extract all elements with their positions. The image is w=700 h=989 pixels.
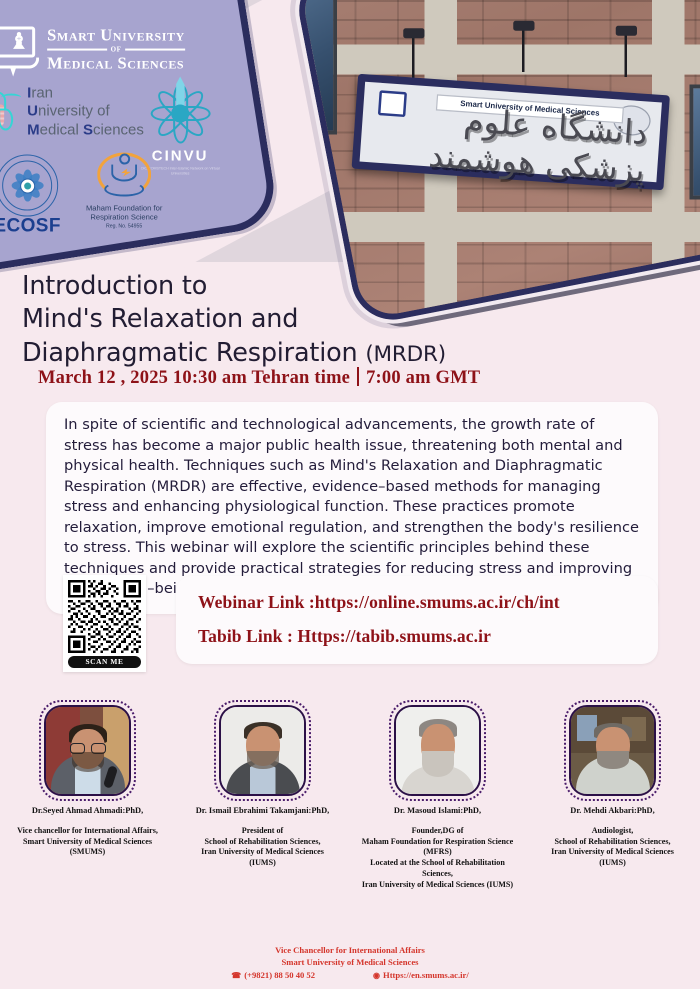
avatar — [39, 700, 136, 801]
speaker-name: Dr. Mehdi Akbari:PhD, — [525, 806, 700, 817]
footer-line-2: Smart University of Medical Sciences — [0, 956, 700, 968]
cinvu-star-icon — [147, 81, 213, 147]
logo-panel: ♝ Smart University of Medical Sciences I… — [0, 0, 280, 272]
speaker-role: President of School of Rehabilitation Sc… — [175, 826, 350, 869]
speaker-name: Dr. Masoud Islami:PhD, — [350, 806, 525, 817]
title-line-3: Diaphragmatic Respiration (MRDR) — [22, 337, 582, 370]
avatar-frame — [569, 705, 656, 796]
webinar-link[interactable]: Webinar Link :https://online.smums.ac.ir… — [198, 590, 658, 615]
speaker-portrait — [46, 707, 129, 794]
avatar — [214, 700, 311, 801]
speaker-card: Dr. Masoud Islami:PhD, Founder,DG of Mah… — [350, 700, 525, 890]
ecosf-wordmark: ECOSF — [0, 216, 68, 238]
links-card: Webinar Link :https://online.smums.ac.ir… — [176, 576, 658, 664]
ecosf-flower-icon — [10, 169, 44, 203]
iums-l3a: M — [27, 121, 40, 138]
logo-maham: Maham Foundation for Respiration Science… — [70, 151, 178, 230]
date-separator — [357, 367, 359, 386]
qr-code-icon[interactable] — [68, 580, 141, 653]
speaker-name: Dr. Ismail Ebrahimi Takamjani:PhD, — [175, 806, 350, 817]
speaker-portrait — [571, 707, 654, 794]
logo-ecosf: ECOSF — [0, 155, 68, 238]
smums-line-1: Smart University — [47, 27, 185, 44]
avatar-frame — [219, 705, 306, 796]
title-line-1: Introduction to — [22, 270, 582, 303]
phone-icon: ☎ — [231, 970, 241, 981]
footer-phone: ☎ (+9821) 88 50 40 52 — [231, 969, 315, 981]
maham-wordmark: Maham Foundation for Respiration Science… — [70, 204, 178, 230]
footer-website-text[interactable]: Https://en.smums.ac.ir/ — [383, 969, 469, 981]
speaker-portrait — [221, 707, 304, 794]
ecosf-seal-icon — [0, 155, 58, 217]
iums-l3b: edical — [40, 121, 83, 138]
caduceus-icon: ♝ — [9, 29, 29, 55]
speaker-role: Audiologist, School of Rehabilitation Sc… — [525, 826, 700, 869]
speaker-role: Vice chancellor for International Affair… — [0, 826, 175, 858]
maham-line-2: Respiration Science — [70, 213, 178, 222]
title-line-2: Mind's Relaxation and — [22, 303, 582, 336]
avatar — [564, 700, 661, 801]
globe-icon: ◉ — [373, 970, 380, 981]
iums-l1b: ran — [31, 85, 53, 102]
page-title: Introduction to Mind's Relaxation and Di… — [22, 270, 582, 370]
speaker-card: Dr. Ismail Ebrahimi Takamjani:PhD, Presi… — [175, 700, 350, 890]
sign-persian-text: دانشگاه علوم پزشکی هوشمند — [372, 110, 647, 175]
footer-contact: ☎ (+9821) 88 50 40 52 ◉ Https://en.smums… — [0, 969, 700, 981]
footer-phone-text: (+9821) 88 50 40 52 — [244, 969, 315, 981]
speaker-role: Founder,DG of Maham Foundation for Respi… — [350, 826, 525, 891]
iums-emblem-icon — [0, 88, 21, 136]
mortar-course — [292, 45, 700, 75]
iums-wordmark: Iran University of Medical Sciences — [27, 85, 144, 140]
footer-line-1: Vice Chancellor for International Affair… — [0, 944, 700, 956]
avatar-frame — [44, 705, 131, 796]
logo-panel-content: ♝ Smart University of Medical Sciences I… — [0, 19, 244, 269]
scan-me-label: SCAN ME — [68, 656, 141, 668]
description-text: In spite of scientific and technological… — [64, 415, 642, 600]
title-line-3-text: Diaphragmatic Respiration — [22, 338, 357, 368]
smums-wordmark: Smart University of Medical Sciences — [47, 27, 185, 72]
speaker-card: Dr.Seyed Ahmad Ahmadi:PhD, Vice chancell… — [0, 700, 175, 890]
logo-iums: Iran University of Medical Sciences — [0, 85, 144, 140]
sign-lamp — [522, 29, 525, 72]
smums-line-3: Medical Sciences — [47, 55, 185, 72]
maham-reg-no: Reg. No. 54955 — [70, 224, 178, 230]
iums-l2a: U — [27, 103, 38, 120]
maham-line-1: Maham Foundation for — [70, 204, 178, 213]
iums-l3c: S — [83, 121, 93, 138]
event-datetime: March 12 , 2025 10:30 am Tehran time7:00… — [38, 367, 480, 389]
sign-lamp — [412, 37, 415, 80]
qr-code-card[interactable]: SCAN ME — [63, 575, 146, 672]
title-abbreviation: (MRDR) — [365, 342, 446, 367]
speakers-row: Dr.Seyed Ahmad Ahmadi:PhD, Vice chancell… — [0, 700, 700, 890]
sign-lamp — [625, 34, 628, 77]
speaker-name: Dr.Seyed Ahmad Ahmadi:PhD, — [0, 806, 175, 817]
logo-smums: ♝ Smart University of Medical Sciences — [0, 25, 185, 75]
smums-emblem-icon: ♝ — [0, 25, 39, 75]
mortar-course — [292, 212, 700, 242]
webinar-poster: Smart University of Medical Sciences دان… — [0, 0, 700, 989]
tabib-link[interactable]: Tabib Link : Https://tabib.smums.ac.ir — [198, 624, 658, 649]
iums-l2b: niversity of — [38, 103, 110, 120]
event-date-gmt: 7:00 am GMT — [366, 368, 480, 388]
avatar — [389, 700, 486, 801]
footer: Vice Chancellor for International Affair… — [0, 944, 700, 982]
speaker-card: Dr. Mehdi Akbari:PhD, Audiologist, Schoo… — [525, 700, 700, 890]
event-date-local: March 12 , 2025 10:30 am Tehran time — [38, 368, 350, 388]
window — [690, 85, 700, 200]
avatar-frame — [394, 705, 481, 796]
speaker-portrait — [396, 707, 479, 794]
maham-meditation-icon — [93, 151, 155, 203]
footer-website[interactable]: ◉ Https://en.smums.ac.ir/ — [373, 969, 469, 981]
